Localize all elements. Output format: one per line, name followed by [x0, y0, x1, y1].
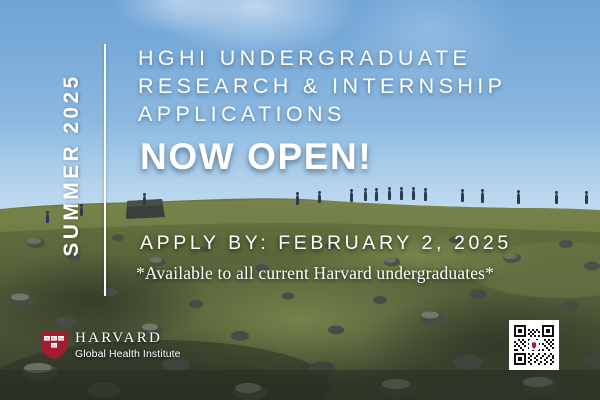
- hiker: [318, 194, 321, 203]
- hiker: [388, 190, 391, 200]
- hiker: [46, 214, 49, 223]
- headline-line-2: RESEARCH & INTERNSHIP: [138, 72, 578, 100]
- hiker: [424, 191, 427, 201]
- hiker: [481, 192, 484, 203]
- svg-text:RI: RI: [52, 336, 55, 340]
- svg-text:AS: AS: [52, 343, 56, 347]
- logo-title: HARVARD: [75, 330, 162, 346]
- svg-text:TAS: TAS: [58, 336, 64, 340]
- hiker: [461, 192, 464, 202]
- season-label: SUMMER 2025: [60, 50, 84, 280]
- hiker: [400, 190, 403, 200]
- hiker: [555, 194, 558, 204]
- logo-subtitle: Global Health Institute: [75, 349, 181, 360]
- headline-line-1: HGHI UNDERGRADUATE: [138, 44, 578, 72]
- hiker: [296, 195, 299, 205]
- hiker: [350, 192, 353, 202]
- eligibility-note: *Available to all current Harvard underg…: [136, 263, 494, 284]
- harvard-ghi-logo: VE RI TAS AS HARVARD Global Health Insti…: [40, 330, 181, 360]
- deadline-text: APPLY BY: FEBRUARY 2, 2025: [140, 232, 512, 255]
- vertical-divider: [104, 44, 106, 296]
- harvard-veritas-shield-icon: VE RI TAS AS: [40, 330, 68, 360]
- qr-code[interactable]: [509, 320, 559, 370]
- hiker: [517, 193, 520, 204]
- status-line: NOW OPEN!: [140, 136, 372, 178]
- hiker: [585, 194, 588, 204]
- headline: HGHI UNDERGRADUATE RESEARCH & INTERNSHIP…: [138, 44, 578, 128]
- headline-line-3: APPLICATIONS: [138, 100, 578, 128]
- hiker: [412, 190, 415, 200]
- poster: SUMMER 2025 HGHI UNDERGRADUATE RESEARCH …: [0, 0, 600, 400]
- logo-wordmark: HARVARD Global Health Institute: [75, 330, 181, 360]
- svg-text:VE: VE: [45, 336, 49, 340]
- hiker: [375, 191, 378, 201]
- hiker: [364, 191, 367, 201]
- hiker: [143, 196, 146, 205]
